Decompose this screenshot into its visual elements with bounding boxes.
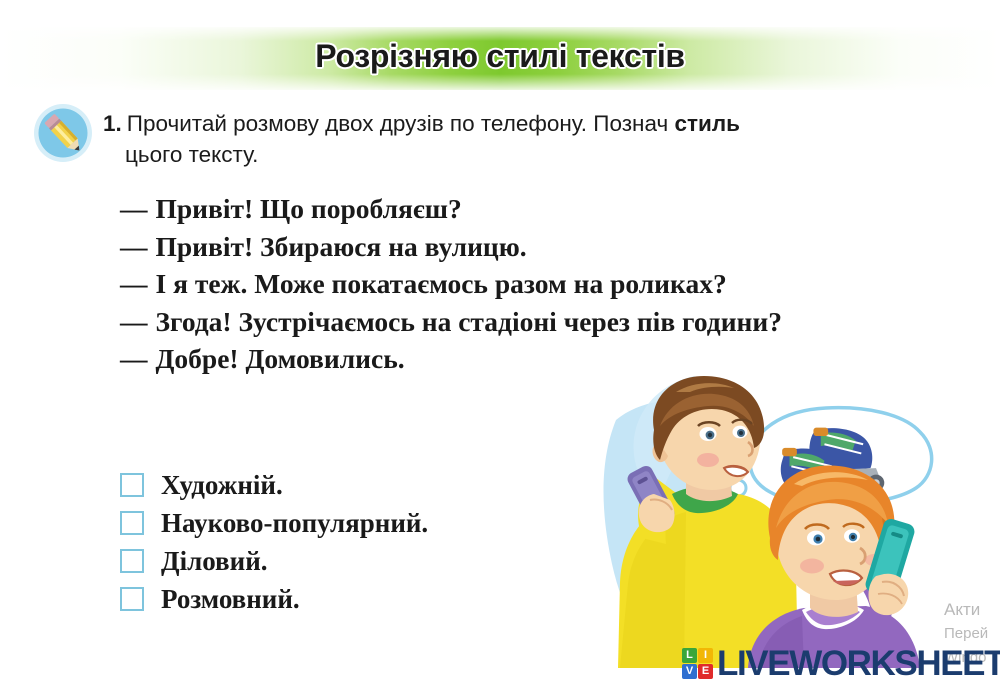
dialogue-dash: — bbox=[120, 343, 148, 374]
watermark-line-1: Акти bbox=[944, 598, 1000, 622]
option-label: Науково-популярний. bbox=[161, 508, 428, 538]
task-number: 1. bbox=[103, 111, 122, 136]
task-text-continued: цього тексту. bbox=[125, 139, 983, 170]
option-row-naukovo-populyarnyy[interactable]: Науково-популярний. bbox=[120, 504, 590, 542]
dialogue-line: —Привіт! Що поробляєш? bbox=[120, 190, 980, 228]
pencil-icon bbox=[30, 100, 96, 166]
dialogue-line-text: Привіт! Збираюся на вулицю. bbox=[156, 231, 527, 262]
dialogue-line-text: І я теж. Може покатаємось разом на ролик… bbox=[156, 268, 727, 299]
two-boys-talking-on-phones-illustration bbox=[598, 368, 1000, 668]
dialogue-dash: — bbox=[120, 231, 148, 262]
style-options-list: Художній. Науково-популярний. Діловий. Р… bbox=[120, 466, 590, 618]
dialogue-line: —Згода! Зустрічаємось на стадіоні через … bbox=[120, 303, 980, 341]
checkbox-hudozhniy[interactable] bbox=[120, 473, 144, 497]
liveworksheets-logo-tiles: L I V E bbox=[682, 648, 713, 679]
option-row-hudozhniy[interactable]: Художній. bbox=[120, 466, 590, 504]
dialogue-text: —Привіт! Що поробляєш? —Привіт! Збираюся… bbox=[120, 190, 980, 378]
task-instruction: 1.Прочитай розмову двох друзів по телефо… bbox=[103, 108, 983, 170]
logo-tile-i: I bbox=[698, 648, 713, 663]
logo-tile-e: E bbox=[698, 664, 713, 679]
option-row-dilovyy[interactable]: Діловий. bbox=[120, 542, 590, 580]
option-label: Діловий. bbox=[161, 546, 268, 576]
worksheet-page: Розрізняю стилі текстів 1.Прочитай розмо… bbox=[0, 0, 1000, 685]
checkbox-rozmovnyy[interactable] bbox=[120, 587, 144, 611]
option-row-rozmovnyy[interactable]: Розмовний. bbox=[120, 580, 590, 618]
dialogue-line-text: Привіт! Що поробляєш? bbox=[156, 193, 462, 224]
task-text: Прочитай розмову двох друзів по телефону… bbox=[127, 111, 675, 136]
page-title: Розрізняю стилі текстів bbox=[0, 38, 1000, 75]
checkbox-naukovo-populyarnyy[interactable] bbox=[120, 511, 144, 535]
option-label: Розмовний. bbox=[161, 584, 300, 614]
checkbox-dilovyy[interactable] bbox=[120, 549, 144, 573]
dialogue-line-text: Добре! Домовились. bbox=[156, 343, 405, 374]
dialogue-dash: — bbox=[120, 193, 148, 224]
liveworksheets-wordmark: LIVEWORKSHEETS bbox=[717, 646, 1000, 681]
logo-tile-l: L bbox=[682, 648, 697, 663]
task-text-emphasis: стиль bbox=[674, 111, 740, 136]
option-label: Художній. bbox=[161, 470, 283, 500]
dialogue-line: —І я теж. Може покатаємось разом на роли… bbox=[120, 265, 980, 303]
dialogue-dash: — bbox=[120, 306, 148, 337]
dialogue-line: —Привіт! Збираюся на вулицю. bbox=[120, 228, 980, 266]
liveworksheets-watermark: L I V E LIVEWORKSHEETS bbox=[682, 643, 1000, 683]
logo-tile-v: V bbox=[682, 664, 697, 679]
dialogue-line-text: Згода! Зустрічаємось на стадіоні через п… bbox=[156, 306, 783, 337]
dialogue-dash: — bbox=[120, 268, 148, 299]
